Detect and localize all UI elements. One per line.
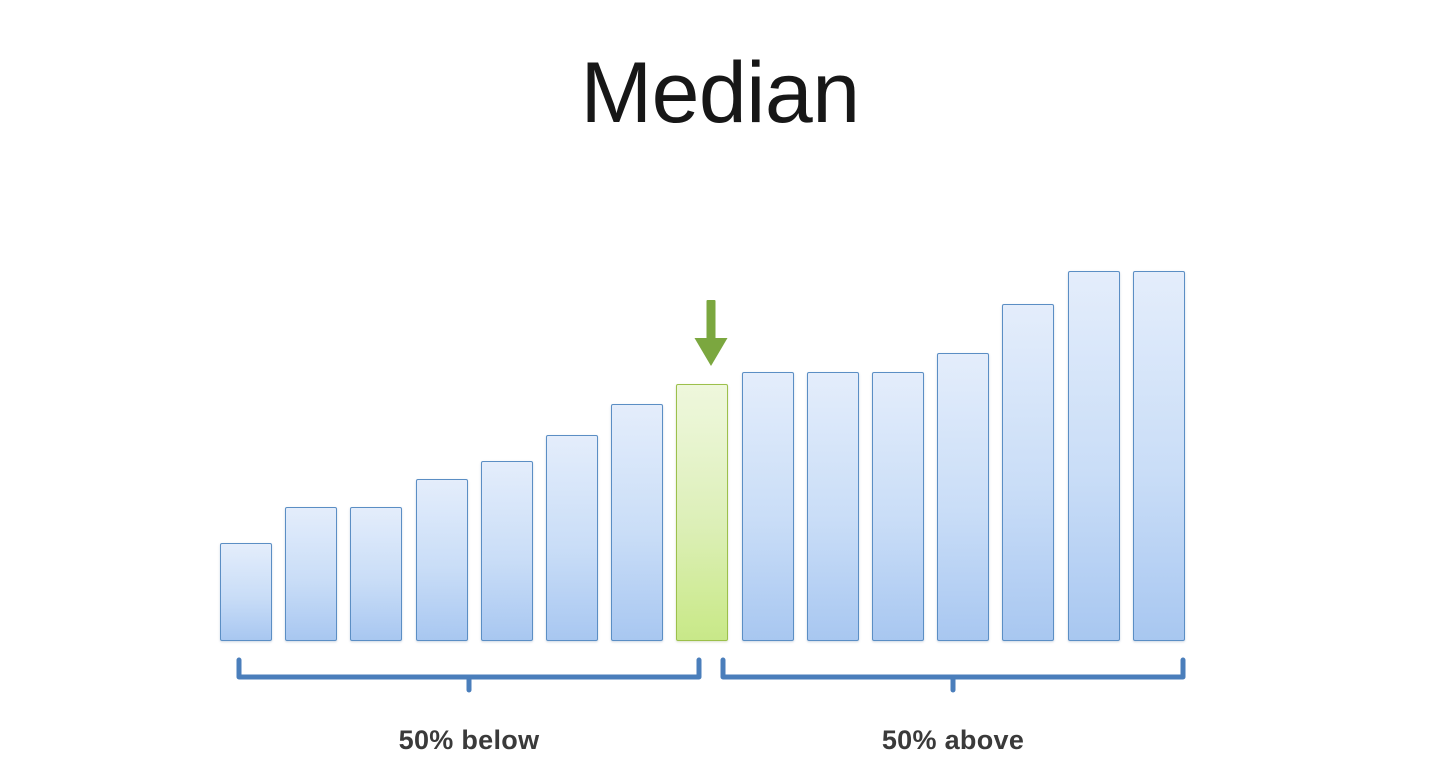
bar-9 — [742, 372, 794, 641]
bar-7 — [611, 404, 663, 641]
slide-canvas: Median 50% below 50% above — [0, 0, 1440, 783]
bar-5 — [481, 461, 533, 641]
bar-2 — [285, 507, 337, 641]
bar-12 — [937, 353, 989, 641]
above-bracket — [716, 655, 1190, 693]
bar-14 — [1068, 271, 1120, 641]
bar-13 — [1002, 304, 1054, 641]
bar-6 — [546, 435, 598, 641]
bar-10 — [807, 372, 859, 641]
bar-4 — [416, 479, 468, 641]
below-range-label: 50% below — [319, 725, 619, 756]
bar-11 — [872, 372, 924, 641]
median-bar — [676, 384, 728, 641]
median-arrow-icon — [690, 300, 732, 372]
bar-3 — [350, 507, 402, 641]
bar-15 — [1133, 271, 1185, 641]
above-range-label: 50% above — [803, 725, 1103, 756]
bar-1 — [220, 543, 272, 641]
below-bracket — [232, 655, 706, 693]
